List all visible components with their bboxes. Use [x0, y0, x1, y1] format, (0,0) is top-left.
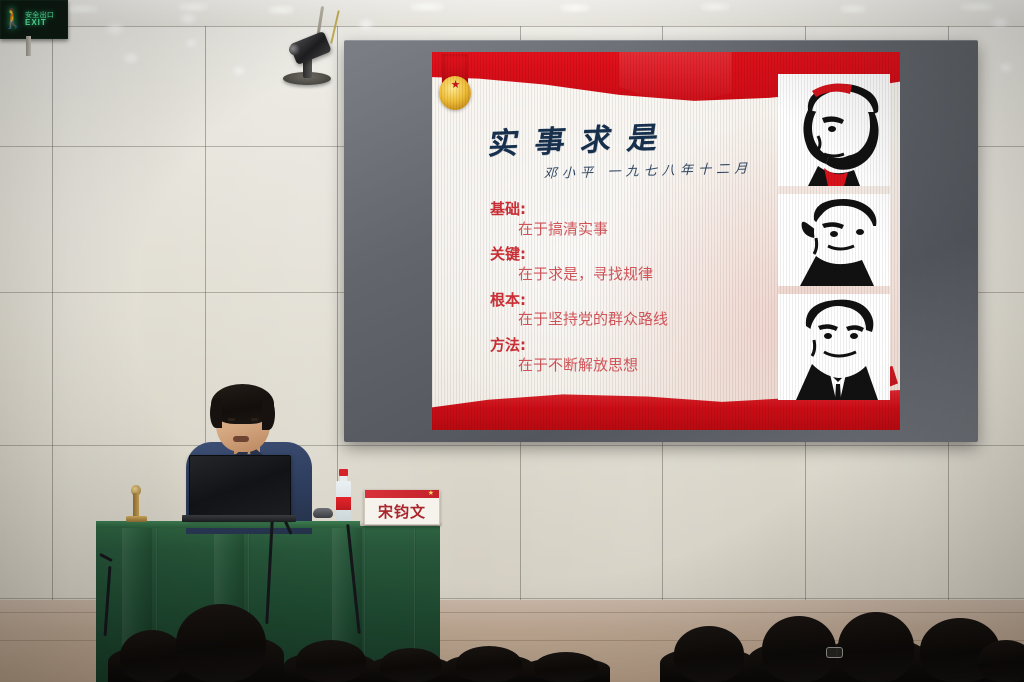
slide-bullet-body: 在于坚持党的群众路线 [518, 310, 782, 330]
name-card-header-bar: ★ [365, 490, 439, 498]
portrait-xi-svg [778, 294, 890, 400]
wall-seam-vertical [52, 0, 53, 620]
bottle-cap [339, 469, 348, 476]
slide-bullet-head: 方法: [490, 336, 782, 355]
portrait-mao-svg [778, 74, 890, 186]
lecture-hall-scene: 🚶 安全出口 EXIT ★ 实事求是 邓小平 一九七八年十二月 [0, 0, 1024, 682]
laptop-keyboard[interactable] [182, 515, 296, 522]
bottle-label [336, 497, 351, 510]
microphone-base [126, 516, 147, 522]
portrait-xi-jinping [778, 294, 890, 400]
slide-title-calligraphy: 实事求是 [486, 109, 765, 163]
exit-sign-labels: 安全出口 EXIT [25, 12, 54, 28]
portrait-mao-zedong [778, 74, 890, 186]
slide-bullet-head: 根本: [490, 291, 782, 310]
slide-bullet-head: 基础: [490, 200, 782, 219]
name-card: ★ 宋钧文 [364, 489, 440, 525]
ceiling [0, 0, 1024, 26]
presenter-eye-left [228, 418, 235, 421]
ceiling-light [840, 4, 866, 13]
slide-title-block: 实事求是 邓小平 一九七八年十二月 [490, 114, 760, 188]
wall-seam-horizontal [0, 26, 1024, 27]
audience-head [380, 648, 442, 682]
audience-head [838, 612, 914, 682]
exit-label-en: EXIT [25, 19, 54, 27]
presenter-mouth [233, 436, 249, 442]
mouse[interactable] [313, 508, 333, 518]
laptop-screen[interactable] [189, 455, 291, 519]
exit-sign: 🚶 安全出口 EXIT [0, 0, 68, 39]
portrait-deng-xiaoping [778, 194, 890, 286]
name-card-star-icon: ★ [428, 490, 434, 498]
audience-glasses-icon [826, 647, 843, 658]
slide-bullet-head: 关键: [490, 245, 782, 264]
ceiling-light [268, 5, 294, 14]
presenter-hair-left [210, 398, 222, 428]
slide-bullet-list: 基础: 在于搞清实事 关键: 在于求是，寻找规律 根本: 在于坚持党的群众路线 … [472, 200, 782, 381]
ceiling-light [64, 4, 98, 13]
ceiling-light [700, 2, 730, 11]
audience-head [296, 640, 366, 682]
wall-seam-horizontal [0, 445, 1024, 446]
ceiling-light [560, 3, 590, 12]
audience-head [120, 630, 184, 682]
presenter-hair-right [262, 398, 275, 430]
ceiling-light [960, 2, 994, 11]
audience-head [762, 616, 836, 682]
audience-head [674, 626, 744, 682]
name-card-name: 宋钧文 [365, 498, 439, 524]
party-emblem-icon: ★ [438, 54, 472, 114]
audience-head [534, 652, 598, 682]
exit-sign-bracket [26, 36, 31, 56]
slide-bullet-body: 在于求是，寻找规律 [518, 265, 782, 285]
led-screen-frame: ★ 实事求是 邓小平 一九七八年十二月 基础: 在于搞清实事 关键: 在于求是，… [344, 40, 978, 442]
water-bottle [336, 469, 351, 521]
led-screen-display: ★ 实事求是 邓小平 一九七八年十二月 基础: 在于搞清实事 关键: 在于求是，… [432, 52, 900, 430]
running-person-icon: 🚶 [1, 1, 25, 38]
emblem-medal: ★ [439, 76, 471, 110]
presenter-eye-right [251, 418, 258, 421]
audience-head [456, 646, 522, 682]
slide-portrait-column [778, 74, 894, 408]
ceiling-light [410, 2, 444, 11]
audience-head [978, 640, 1024, 682]
portrait-deng-svg [778, 194, 890, 286]
slide-bullet-body: 在于搞清实事 [518, 220, 782, 240]
audience-head [176, 604, 266, 682]
emblem-star-icon: ★ [450, 80, 461, 91]
slide-bullet-body: 在于不断解放思想 [518, 356, 782, 376]
slide-title-signature: 邓小平 一九七八年十二月 [543, 157, 763, 182]
ceiling-light [178, 2, 208, 11]
bottle-neck [340, 475, 347, 482]
